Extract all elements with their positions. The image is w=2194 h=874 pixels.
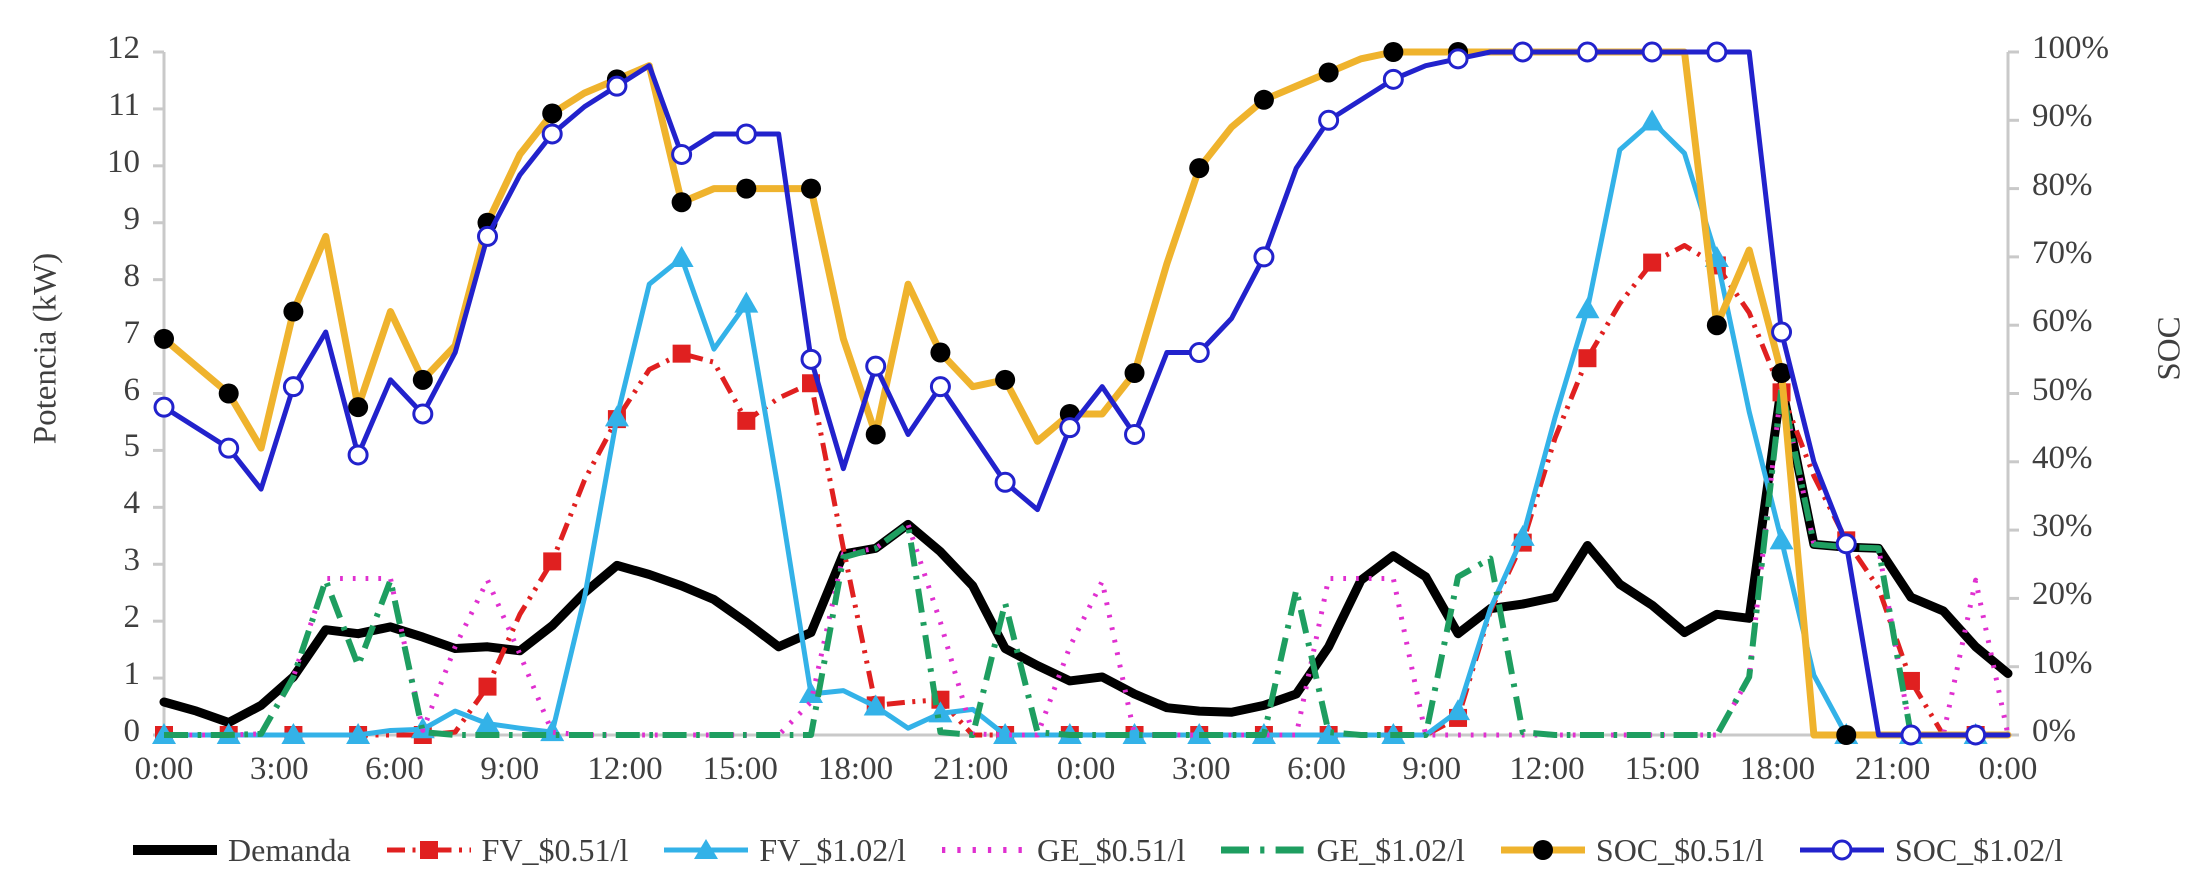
legend-label: SOC_$1.02/l	[1895, 832, 2063, 869]
marker-circle-filled	[1836, 725, 1856, 745]
marker-circle-filled	[1189, 158, 1209, 178]
marker-square	[543, 552, 561, 570]
marker-circle-open	[1126, 425, 1144, 443]
legend-swatch	[940, 837, 1028, 863]
y-tick-right: 20%	[2032, 576, 2142, 613]
marker-square	[737, 412, 755, 430]
y-tick-right: 30%	[2032, 508, 2142, 545]
y-tick-left: 7	[80, 315, 140, 352]
legend-label: GE_$1.02/l	[1316, 832, 1464, 869]
legend-label: SOC_$0.51/l	[1596, 832, 1764, 869]
marker-circle-open	[284, 378, 302, 396]
marker-circle-filled	[413, 370, 433, 390]
chart-root: Potencia (kW) SOC 0123456789101112 0%10%…	[0, 0, 2194, 874]
marker-circle-open	[996, 473, 1014, 491]
x-tick: 18:00	[1713, 751, 1843, 788]
legend-item-ge-0-51-l[interactable]: GE_$0.51/l	[940, 832, 1185, 869]
marker-circle-open	[673, 145, 691, 163]
x-tick: 9:00	[1367, 751, 1497, 788]
marker-circle-filled	[801, 179, 821, 199]
marker-circle-open	[1837, 535, 1855, 553]
marker-circle-open	[737, 125, 755, 143]
chart-legend: DemandaFV_$0.51/lFV_$1.02/lGE_$0.51/lGE_…	[0, 826, 2194, 874]
chart-plot-area	[0, 0, 2194, 874]
y-tick-left: 1	[80, 656, 140, 693]
legend-swatch	[131, 837, 219, 863]
y-tick-right: 100%	[2032, 30, 2142, 67]
marker-circle-filled	[866, 424, 886, 444]
y-tick-left: 4	[80, 485, 140, 522]
marker-circle-filled	[283, 302, 303, 322]
marker-circle-open	[1190, 344, 1208, 362]
y-tick-right: 50%	[2032, 372, 2142, 409]
marker-circle-open	[155, 398, 173, 416]
marker-circle-open	[1902, 726, 1920, 744]
marker-circle-filled	[930, 343, 950, 363]
marker-circle-open	[1708, 43, 1726, 61]
legend-item-soc-0-51-l[interactable]: SOC_$0.51/l	[1499, 832, 1764, 869]
y-tick-left: 9	[80, 201, 140, 238]
marker-square	[479, 678, 497, 696]
x-tick: 12:00	[560, 751, 690, 788]
y-tick-right: 0%	[2032, 713, 2142, 750]
marker-circle-filled	[348, 397, 368, 417]
x-tick: 18:00	[791, 751, 921, 788]
marker-square	[1578, 349, 1596, 367]
marker-circle-open	[349, 446, 367, 464]
marker-circle-filled	[154, 329, 174, 349]
x-tick: 9:00	[445, 751, 575, 788]
marker-square	[673, 345, 691, 363]
marker-circle-filled	[736, 179, 756, 199]
marker-circle-open	[1255, 248, 1273, 266]
marker-circle-filled	[1319, 62, 1339, 82]
marker-circle-open	[608, 77, 626, 95]
marker-circle-filled	[1383, 42, 1403, 62]
y-tick-right: 60%	[2032, 303, 2142, 340]
legend-swatch	[1499, 837, 1587, 863]
marker-circle-filled	[1254, 90, 1274, 110]
y-tick-right: 10%	[2032, 645, 2142, 682]
marker-circle-open	[1449, 50, 1467, 68]
legend-label: FV_$0.51/l	[482, 832, 629, 869]
y-tick-left: 8	[80, 258, 140, 295]
marker-circle-filled	[1707, 315, 1727, 335]
marker-circle-open	[931, 378, 949, 396]
legend-swatch	[385, 837, 473, 863]
x-tick: 15:00	[1597, 751, 1727, 788]
marker-circle-filled	[1125, 363, 1145, 383]
marker-circle-open	[1578, 43, 1596, 61]
x-tick: 15:00	[675, 751, 805, 788]
marker-circle-open	[802, 350, 820, 368]
marker-circle-open	[1061, 419, 1079, 437]
x-tick: 0:00	[1943, 751, 2073, 788]
legend-item-fv-1-02-l[interactable]: FV_$1.02/l	[662, 832, 906, 869]
marker-circle-open	[1384, 70, 1402, 88]
marker-triangle	[1770, 528, 1794, 549]
marker-triangle	[1575, 297, 1599, 318]
x-tick: 6:00	[1252, 751, 1382, 788]
legend-label: Demanda	[228, 832, 351, 869]
x-tick: 12:00	[1482, 751, 1612, 788]
legend-marker-circle-filled	[1533, 840, 1553, 860]
marker-circle-open	[1320, 111, 1338, 129]
marker-circle-filled	[995, 370, 1015, 390]
legend-swatch	[1798, 837, 1886, 863]
y-tick-left: 12	[80, 30, 140, 67]
y-tick-left: 0	[80, 713, 140, 750]
x-tick: 21:00	[906, 751, 1036, 788]
marker-circle-open	[414, 405, 432, 423]
legend-item-demanda[interactable]: Demanda	[131, 832, 351, 869]
legend-item-fv-0-51-l[interactable]: FV_$0.51/l	[385, 832, 629, 869]
legend-item-ge-1-02-l[interactable]: GE_$1.02/l	[1219, 832, 1464, 869]
y-tick-left: 3	[80, 542, 140, 579]
marker-circle-open	[867, 357, 885, 375]
y-tick-left: 11	[80, 87, 140, 124]
legend-label: FV_$1.02/l	[759, 832, 906, 869]
marker-triangle	[734, 292, 758, 313]
legend-marker-square	[420, 841, 438, 859]
x-tick: 6:00	[330, 751, 460, 788]
x-tick: 0:00	[1021, 751, 1151, 788]
y-tick-right: 40%	[2032, 440, 2142, 477]
legend-swatch	[662, 837, 750, 863]
marker-circle-open	[1643, 43, 1661, 61]
x-tick: 3:00	[214, 751, 344, 788]
y-tick-right: 90%	[2032, 98, 2142, 135]
legend-label: GE_$0.51/l	[1037, 832, 1185, 869]
marker-circle-open	[479, 227, 497, 245]
marker-square	[1643, 254, 1661, 272]
legend-item-soc-1-02-l[interactable]: SOC_$1.02/l	[1798, 832, 2063, 869]
marker-circle-filled	[219, 384, 239, 404]
y-tick-right: 80%	[2032, 167, 2142, 204]
x-tick: 21:00	[1828, 751, 1958, 788]
marker-circle-open	[1967, 726, 1985, 744]
marker-circle-open	[543, 125, 561, 143]
y-tick-left: 6	[80, 372, 140, 409]
x-tick: 0:00	[99, 751, 229, 788]
series-demanda	[164, 385, 2008, 723]
legend-marker-circle-open	[1833, 841, 1851, 859]
legend-swatch	[1219, 837, 1307, 863]
marker-circle-open	[1514, 43, 1532, 61]
marker-triangle	[670, 246, 694, 267]
y-tick-right: 70%	[2032, 235, 2142, 272]
marker-circle-filled	[672, 192, 692, 212]
y-tick-left: 10	[80, 144, 140, 181]
y-tick-left: 5	[80, 428, 140, 465]
y-tick-left: 2	[80, 599, 140, 636]
x-tick: 3:00	[1136, 751, 1266, 788]
marker-circle-open	[220, 439, 238, 457]
marker-circle-filled	[542, 103, 562, 123]
marker-triangle	[1640, 109, 1664, 130]
marker-circle-open	[1773, 323, 1791, 341]
